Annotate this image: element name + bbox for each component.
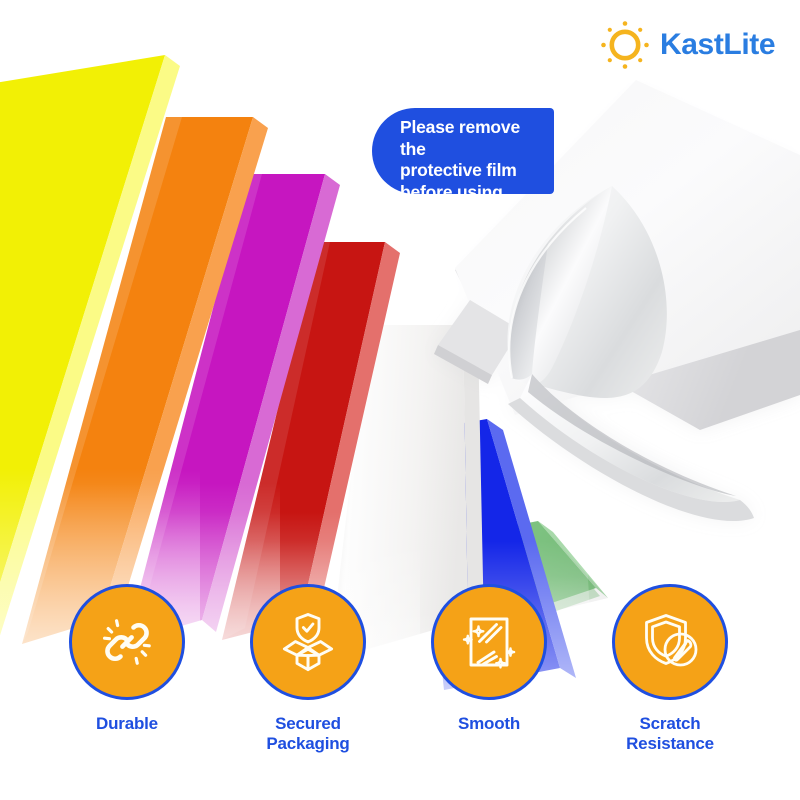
- feature-durable: Durable: [52, 584, 202, 734]
- shine-sheet-icon: [454, 607, 524, 677]
- callout-line-2: protective film: [400, 160, 544, 182]
- feature-scratch-resistance: Scratch Resistance: [595, 584, 745, 754]
- feature-badge-circle: [250, 584, 366, 700]
- feature-label: Smooth: [458, 714, 520, 734]
- protective-film-callout: Please remove the protective film before…: [372, 108, 554, 194]
- feature-badge-circle: [612, 584, 728, 700]
- shield-blade-icon: [635, 607, 705, 677]
- chain-link-icon: [92, 607, 162, 677]
- feature-secured-packaging: Secured Packaging: [233, 584, 383, 754]
- product-image-canvas: KastLite Please remove the protective fi…: [0, 0, 800, 800]
- feature-label: Scratch Resistance: [626, 714, 714, 754]
- feature-badge-circle: [431, 584, 547, 700]
- feature-badge-circle: [69, 584, 185, 700]
- feature-smooth: Smooth: [414, 584, 564, 734]
- brand-logo: KastLite: [596, 16, 788, 74]
- feature-badge-row: Durable Secured: [0, 584, 800, 784]
- sun-icon: [596, 16, 654, 74]
- callout-line-1: Please remove the: [400, 117, 544, 160]
- feature-label: Secured Packaging: [266, 714, 349, 754]
- brand-wordmark: KastLite: [660, 30, 775, 60]
- feature-label: Durable: [96, 714, 158, 734]
- secured-box-icon: [273, 607, 343, 677]
- callout-line-3: before using: [400, 182, 544, 204]
